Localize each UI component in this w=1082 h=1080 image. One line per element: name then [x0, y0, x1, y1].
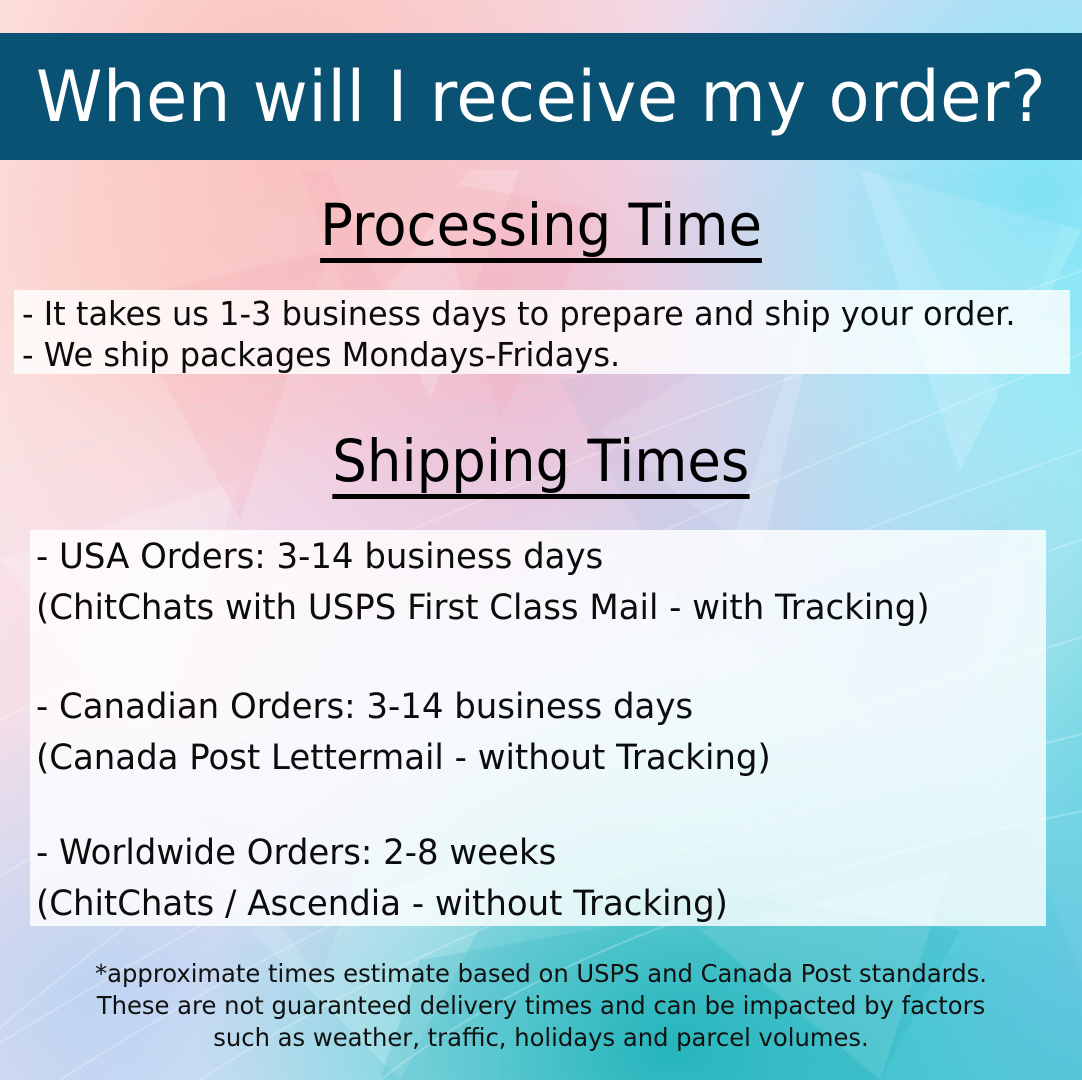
- processing-line-2: - We ship packages Mondays-Fridays.: [22, 334, 620, 375]
- banner-title: When will I receive my order?: [36, 62, 1046, 132]
- processing-time-heading: Processing Time: [0, 196, 1082, 263]
- shipping-info-graphic: When will I receive my order? Processing…: [0, 0, 1082, 1080]
- footnote-line-1: *approximate times estimate based on USP…: [16, 958, 1066, 990]
- shipping-group-worldwide: - Worldwide Orders: 2-8 weeks (ChitChats…: [36, 828, 749, 930]
- shipping-worldwide-sub: (ChitChats / Ascendia - without Tracking…: [36, 879, 728, 930]
- footnote-line-3: such as weather, traffic, holidays and p…: [16, 1022, 1066, 1054]
- footnote: *approximate times estimate based on USP…: [0, 958, 1082, 1054]
- shipping-canada-main: - Canadian Orders: 3-14 business days: [36, 682, 771, 733]
- shipping-times-heading-text: Shipping Times: [332, 432, 749, 499]
- shipping-usa-main: - USA Orders: 3-14 business days: [36, 532, 930, 583]
- footnote-line-2: These are not guaranteed delivery times …: [16, 990, 1066, 1022]
- processing-time-heading-text: Processing Time: [320, 196, 762, 263]
- shipping-times-heading: Shipping Times: [0, 432, 1082, 499]
- shipping-group-usa: - USA Orders: 3-14 business days (ChitCh…: [36, 532, 957, 634]
- processing-line-1: - It takes us 1-3 business days to prepa…: [22, 293, 1016, 334]
- header-banner: When will I receive my order?: [0, 33, 1082, 160]
- shipping-worldwide-main: - Worldwide Orders: 2-8 weeks: [36, 828, 728, 879]
- shipping-canada-sub: (Canada Post Lettermail - without Tracki…: [36, 733, 771, 784]
- shipping-group-canada: - Canadian Orders: 3-14 business days (C…: [36, 682, 793, 784]
- shipping-usa-sub: (ChitChats with USPS First Class Mail - …: [36, 583, 930, 634]
